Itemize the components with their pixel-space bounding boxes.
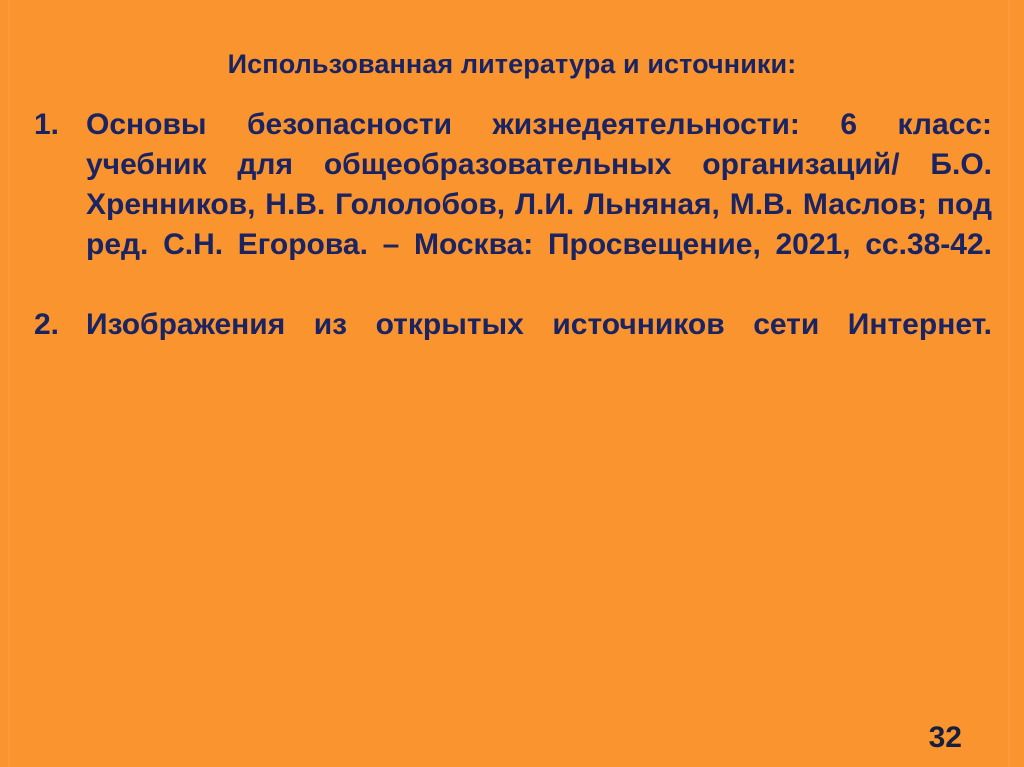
page-number: 32 [929,723,962,753]
list-item-marker: 1. [34,105,78,145]
right-edge-seam [1008,0,1010,767]
presentation-slide: Использованная литература и источники: 1… [0,0,1024,767]
list-item: 2. Изображения из открытых источников се… [34,305,992,385]
left-edge-seam [8,0,10,767]
list-item-marker: 2. [34,305,78,345]
list-item-text: Основы безопасности жизнедеятельности: 6… [86,105,992,305]
list-item-text: Изображения из открытых источников сети … [86,305,992,385]
slide-title: Использованная литература и источники: [0,48,1024,82]
references-list: 1. Основы безопасности жизнедеятельности… [34,105,992,385]
list-item: 1. Основы безопасности жизнедеятельности… [34,105,992,305]
